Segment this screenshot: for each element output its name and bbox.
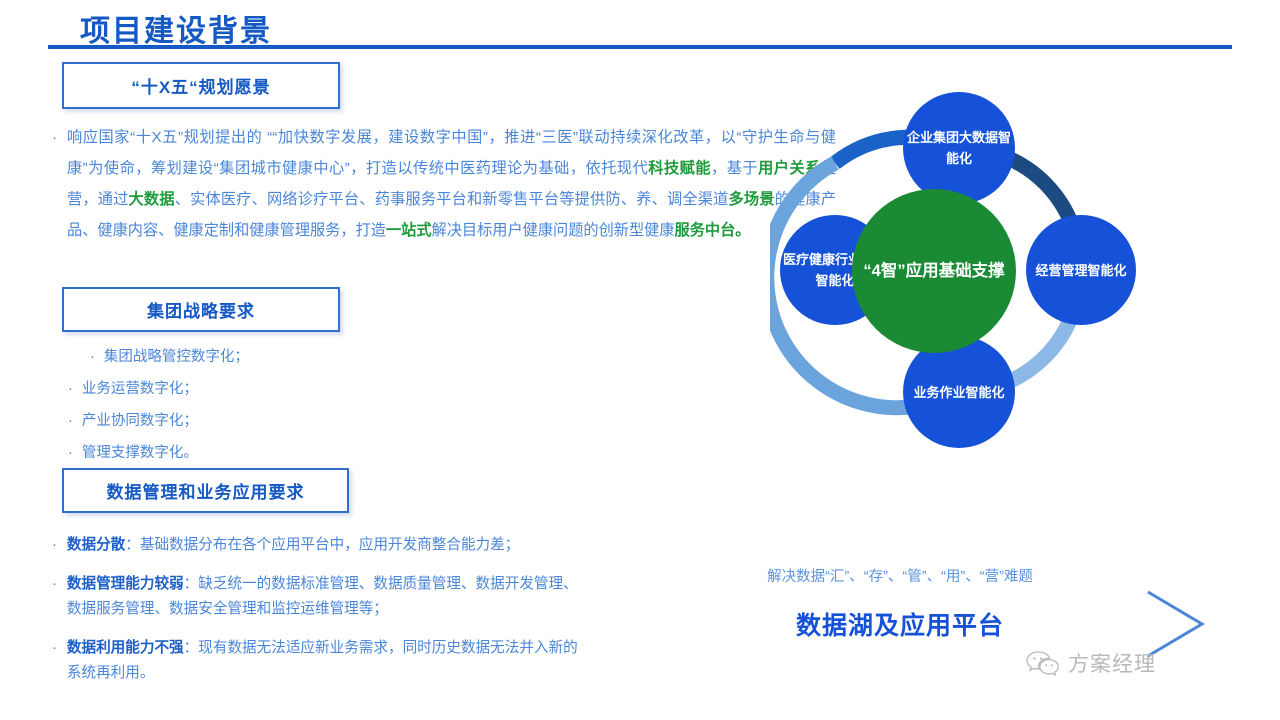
list-item: · 数据利用能力不强：现有数据无法适应新业务需求，同时历史数据无法并入新的系统再… — [52, 636, 592, 687]
list-item: · 数据分散：基础数据分布在各个应用平台中，应用开发商整合能力差； — [52, 533, 592, 559]
list-item-term: 数据利用能力不强 — [67, 640, 184, 656]
diagram-node-top[interactable]: 企业集团大数据智能化 — [903, 92, 1015, 204]
list-item-label: 产业协同数字化； — [82, 408, 198, 435]
vision-paragraph-segment-10: 解决目标用户健康问题的创新型健康 — [432, 222, 675, 239]
list-item-label: 集团战略管控数字化； — [104, 344, 249, 371]
bullet-dot-icon: · — [68, 408, 73, 435]
list-item: · 集团战略管控数字化； — [68, 344, 368, 371]
vision-paragraph-segment-2: ，基于 — [711, 160, 758, 177]
wechat-icon — [1026, 650, 1060, 676]
watermark-label: 方案经理 — [1068, 648, 1156, 678]
bullet-dot-icon: · — [90, 344, 95, 371]
list-item-separator: ： — [125, 537, 140, 553]
section-header-strategy: 集团战略要求 — [62, 287, 340, 332]
bullet-dot-icon: · — [52, 636, 57, 687]
section-header-vision: “十X五“规划愿景 — [62, 62, 340, 109]
vision-paragraph-segment-5: 大数据 — [129, 191, 175, 208]
list-item-body: 数据分散：基础数据分布在各个应用平台中，应用开发商整合能力差； — [67, 533, 592, 559]
list-item-term: 数据管理能力较弱 — [67, 576, 184, 592]
watermark: 方案经理 — [1026, 648, 1156, 678]
vision-paragraph-segment-9: 一站式 — [386, 222, 432, 239]
data-requirements-list: · 数据分散：基础数据分布在各个应用平台中，应用开发商整合能力差； · 数据管理… — [52, 533, 592, 700]
diagram-node-right[interactable]: 经营管理智能化 — [1026, 215, 1136, 325]
list-item-separator: ： — [184, 640, 199, 656]
list-item-body: 数据利用能力不强：现有数据无法适应新业务需求，同时历史数据无法并入新的系统再利用… — [67, 636, 592, 687]
list-item-detail: 基础数据分布在各个应用平台中，应用开发商整合能力差； — [140, 537, 519, 553]
bullet-dot-icon: · — [52, 572, 57, 623]
diagram-subcaption: 解决数据“汇”、“存”、“管”、“用”、“营”难题 — [700, 565, 1100, 586]
list-item: · 产业协同数字化； — [68, 408, 368, 435]
section-header-strategy-label: 集团战略要求 — [147, 297, 255, 322]
bullet-dot-icon: · — [52, 122, 57, 246]
list-item: · 管理支撑数字化。 — [68, 440, 368, 467]
capability-ring-diagram: 企业集团大数据智能化 经营管理智能化 业务作业智能化 医疗健康行业运营智能化 “… — [770, 98, 1240, 568]
title-underline-rule — [48, 45, 1232, 49]
page-title: 项目建设背景 — [80, 6, 272, 50]
diagram-caption: 数据湖及应用平台 — [700, 606, 1100, 642]
section-header-data-requirements: 数据管理和业务应用要求 — [62, 468, 349, 513]
vision-paragraph-segment-1: 科技赋能 — [648, 160, 711, 177]
list-item: · 数据管理能力较弱：缺乏统一的数据标准管理、数据质量管理、数据开发管理、数据服… — [52, 572, 592, 623]
list-item-body: 数据管理能力较弱：缺乏统一的数据标准管理、数据质量管理、数据开发管理、数据服务管… — [67, 572, 592, 623]
section-header-vision-label: “十X五“规划愿景 — [131, 73, 270, 98]
vision-paragraph-segment-7: 多场景 — [729, 191, 775, 208]
list-item: · 业务运营数字化； — [68, 376, 368, 403]
list-item-label: 业务运营数字化； — [82, 376, 198, 403]
diagram-node-center[interactable]: “4智”应用基础支撑 — [852, 189, 1016, 353]
bullet-dot-icon: · — [68, 376, 73, 403]
vision-paragraph: · 响应国家“十X五”规划提出的 ““加快数字发展，建设数字中国”，推进“三医”… — [52, 122, 836, 246]
section-header-data-requirements-label: 数据管理和业务应用要求 — [107, 478, 305, 503]
bullet-dot-icon: · — [52, 533, 57, 559]
vision-paragraph-segment-6: 、实体医疗、网络诊疗平台、药事服务平台和新零售平台等提供防、养、调全渠道 — [175, 191, 729, 208]
diagram-node-bottom[interactable]: 业务作业智能化 — [903, 336, 1015, 448]
list-item-separator: ： — [184, 576, 199, 592]
bullet-dot-icon: · — [68, 440, 73, 467]
list-item-term: 数据分散 — [67, 537, 125, 553]
vision-paragraph-text: 响应国家“十X五”规划提出的 ““加快数字发展，建设数字中国”，推进“三医”联动… — [67, 122, 836, 246]
strategy-requirements-list: · 集团战略管控数字化； · 业务运营数字化； · 产业协同数字化； · 管理支… — [68, 344, 368, 472]
vision-paragraph-segment-11: 服务中台。 — [675, 222, 751, 239]
list-item-label: 管理支撑数字化。 — [82, 440, 198, 467]
